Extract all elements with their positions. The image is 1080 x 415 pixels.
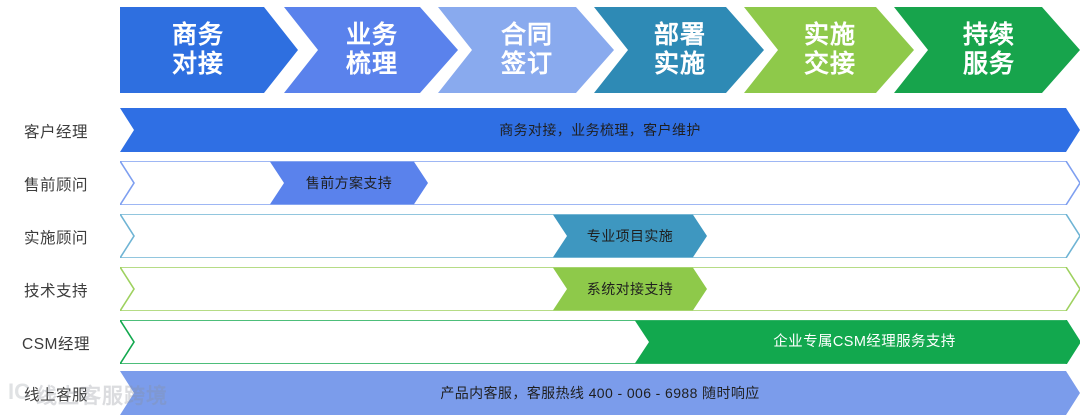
role-band[interactable]: 系统对接支持 — [120, 267, 1080, 311]
stage-label: 合同 签订 — [501, 21, 557, 80]
role-band[interactable]: 产品内客服，客服热线 400 - 006 - 6988 随时响应 — [120, 371, 1080, 415]
stage-arrow-contract-signing[interactable]: 合同 签订 — [438, 7, 614, 93]
segment-label: 售前方案支持 — [270, 176, 428, 190]
role-row-customer-manager: 客户经理 商务对接，业务梳理，客户维护 — [0, 108, 1080, 152]
row-label: 技术支持 — [0, 279, 112, 301]
segment-label: 商务对接，业务梳理，客户维护 — [120, 123, 1080, 137]
role-band[interactable]: 专业项目实施 — [120, 214, 1080, 258]
role-band[interactable]: 商务对接，业务梳理，客户维护 — [120, 108, 1080, 152]
stage-arrow-business-combing[interactable]: 业务 梳理 — [284, 7, 458, 93]
stage-arrow-handover[interactable]: 实施 交接 — [744, 7, 914, 93]
stage-arrow-business-contact[interactable]: 商务 对接 — [120, 7, 298, 93]
role-band[interactable]: 企业专属CSM经理服务支持 — [120, 320, 1080, 364]
stage-arrow-deployment[interactable]: 部署 实施 — [594, 7, 764, 93]
role-row-online-service: 线上客服 产品内客服，客服热线 400 - 006 - 6988 随时响应 — [0, 371, 1080, 415]
segment-label: 系统对接支持 — [553, 282, 707, 296]
segment-label: 产品内客服，客服热线 400 - 006 - 6988 随时响应 — [120, 386, 1080, 400]
stage-arrow-continuous-service[interactable]: 持续 服务 — [894, 7, 1080, 93]
flow-diagram: 商务 对接 业务 梳理 合同 签订 部署 实施 — [0, 0, 1080, 415]
stage-label: 持续 服务 — [963, 21, 1019, 80]
row-label: 客户经理 — [0, 120, 112, 142]
segment-label: 企业专属CSM经理服务支持 — [649, 335, 1080, 350]
role-row-technical-support: 技术支持 系统对接支持 — [0, 267, 1080, 311]
row-label: 实施顾问 — [0, 226, 112, 248]
stage-label: 部署 实施 — [654, 21, 710, 80]
role-row-csm-manager: CSM经理 企业专属CSM经理服务支持 — [0, 320, 1080, 364]
row-label: 线上客服 — [0, 383, 112, 405]
role-row-presales-consultant: 售前顾问 售前方案支持 — [0, 161, 1080, 205]
row-label: CSM经理 — [0, 332, 112, 354]
row-label: 售前顾问 — [0, 173, 112, 195]
role-row-implementation-consultant: 实施顾问 专业项目实施 — [0, 214, 1080, 258]
stage-header-band: 商务 对接 业务 梳理 合同 签订 部署 实施 — [120, 7, 1080, 93]
stage-label: 实施 交接 — [804, 21, 860, 80]
role-band[interactable]: 售前方案支持 — [120, 161, 1080, 205]
stage-label: 商务 对接 — [172, 21, 228, 80]
stage-label: 业务 梳理 — [346, 21, 402, 80]
segment-label: 专业项目实施 — [553, 229, 707, 243]
